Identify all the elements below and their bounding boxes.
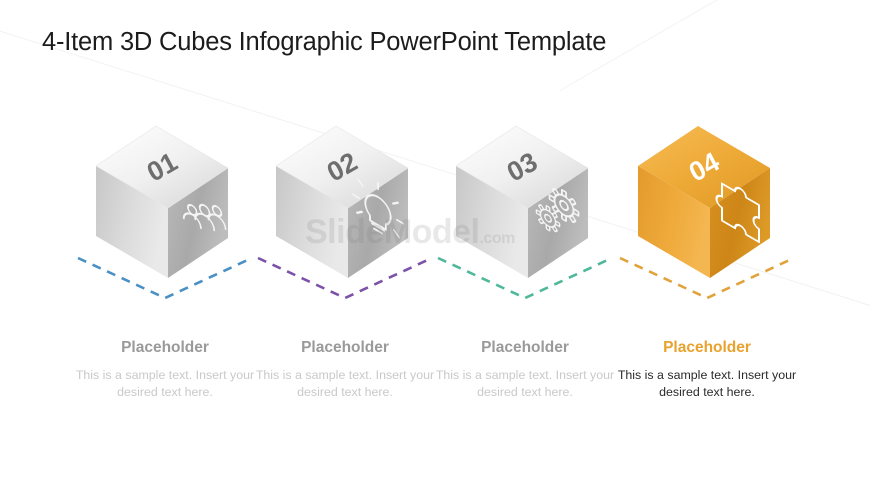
caption-4: Placeholder This is a sample text. Inser… xyxy=(598,338,816,401)
dashed-chevron xyxy=(438,258,612,298)
infographic-item-4[interactable]: 04 Placeholder This is a sample text. In… xyxy=(598,0,816,489)
caption-4-title: Placeholder xyxy=(598,338,816,358)
cube-4-shadow-outline xyxy=(614,252,800,304)
cube-1-shadow-outline xyxy=(72,252,258,304)
cube-2-shadow-outline xyxy=(252,252,438,304)
slide-canvas: 4-Item 3D Cubes Infographic PowerPoint T… xyxy=(0,0,870,489)
cube-3-shadow-outline xyxy=(432,252,618,304)
dashed-chevron xyxy=(78,258,252,298)
dashed-chevron xyxy=(258,258,432,298)
caption-4-body: This is a sample text. Insert your desir… xyxy=(598,367,816,401)
dashed-chevron xyxy=(620,258,794,298)
